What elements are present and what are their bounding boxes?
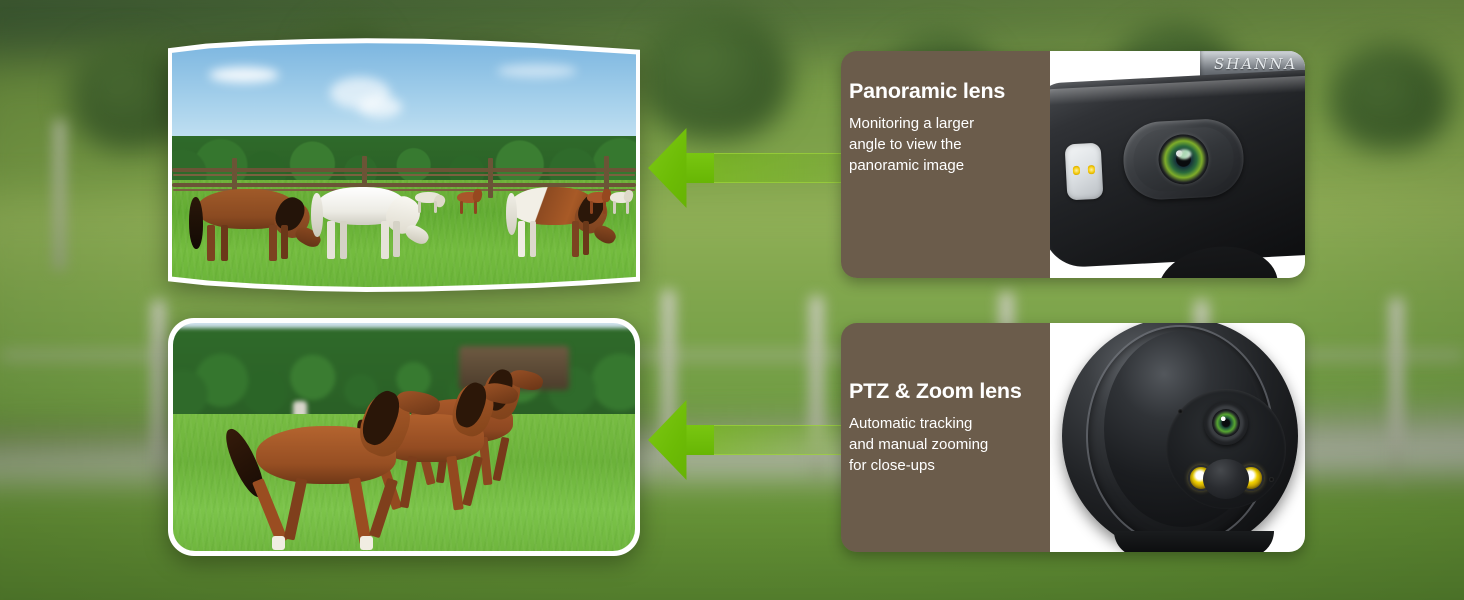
panel-desc-panoramic: Monitoring a larger angle to view the pa… bbox=[849, 113, 1050, 177]
ptz-lens-barrel bbox=[1204, 401, 1248, 445]
camera-led bbox=[1073, 166, 1080, 175]
running-horses-photo-image bbox=[173, 323, 635, 551]
horse-leg bbox=[626, 201, 629, 214]
panel-desc-line: for close-ups bbox=[849, 455, 1050, 476]
camera-lens bbox=[1157, 133, 1210, 186]
feature-panel-ptz: PTZ & Zoom lens Automatic tracking and m… bbox=[841, 323, 1305, 552]
panel-desc-line: angle to view the bbox=[849, 134, 1050, 155]
ptz-camera-base bbox=[1114, 531, 1274, 552]
horse-leg bbox=[434, 201, 437, 213]
horse-leg bbox=[252, 478, 288, 544]
horse-hoof-white bbox=[360, 536, 373, 550]
pasture-scene-running bbox=[173, 323, 635, 551]
camera-body bbox=[1050, 68, 1305, 268]
camera-body-highlight bbox=[1050, 75, 1305, 105]
horse-leg bbox=[283, 477, 307, 540]
horse-leg bbox=[474, 201, 477, 214]
panel-title-panoramic: Panoramic lens bbox=[849, 79, 1050, 104]
pasture-scene-wide bbox=[172, 42, 636, 289]
horse-leg bbox=[369, 478, 398, 538]
horse-tail bbox=[311, 193, 323, 237]
horse-leg bbox=[348, 477, 371, 544]
horse-running-front bbox=[238, 396, 448, 551]
panel-desc-line: panoramic image bbox=[849, 155, 1050, 176]
ptz-camera-face bbox=[1166, 389, 1286, 509]
running-horses-photo bbox=[168, 318, 640, 556]
horse-head bbox=[403, 222, 431, 247]
ptz-pir-sensor bbox=[1203, 459, 1249, 499]
horse-leg bbox=[613, 201, 616, 214]
panel-desc-line: Monitoring a larger bbox=[849, 113, 1050, 134]
scene-fence-rail bbox=[172, 168, 636, 172]
arrow-stem bbox=[684, 153, 714, 183]
camera-lens-housing bbox=[1122, 117, 1246, 201]
horse-distant-pale bbox=[413, 190, 447, 216]
horse-distant-pale bbox=[608, 190, 636, 216]
horse-leg bbox=[518, 221, 525, 257]
panoramic-pasture-photo bbox=[168, 38, 640, 293]
scene-fence-post bbox=[488, 158, 493, 198]
horse-leg bbox=[530, 221, 536, 257]
ptz-camera-shell bbox=[1062, 323, 1298, 552]
horse-tail bbox=[189, 197, 203, 249]
panel-text-ptz: PTZ & Zoom lens Automatic tracking and m… bbox=[841, 323, 1050, 552]
horse-leg bbox=[221, 225, 228, 261]
product-image-panoramic-camera: SHANNA bbox=[1050, 51, 1305, 278]
ptz-lens bbox=[1212, 409, 1240, 437]
horse-leg bbox=[572, 221, 579, 257]
panel-title-ptz: PTZ & Zoom lens bbox=[849, 379, 1050, 404]
horse-leg bbox=[281, 225, 288, 259]
ptz-camera-dome bbox=[1104, 331, 1262, 527]
scene-cloud bbox=[358, 96, 402, 118]
horse-leg bbox=[269, 225, 277, 261]
panel-text-panoramic: Panoramic lens Monitoring a larger angle… bbox=[841, 51, 1050, 278]
horse-leg bbox=[418, 201, 421, 213]
panel-desc-line: Automatic tracking bbox=[849, 413, 1050, 434]
horse-hoof-white bbox=[272, 536, 285, 550]
horse-leg bbox=[340, 221, 347, 259]
horse-leg bbox=[327, 221, 335, 259]
camera-spotlight bbox=[1065, 143, 1104, 201]
horse-tail bbox=[506, 193, 517, 235]
horse-leg bbox=[207, 225, 215, 261]
product-image-ptz-camera bbox=[1050, 323, 1305, 552]
arrow-stem bbox=[684, 425, 714, 455]
camera-lens-recess bbox=[1132, 126, 1235, 193]
horse-leg bbox=[393, 221, 400, 257]
horse-leg bbox=[460, 201, 463, 214]
horse-leg bbox=[590, 201, 593, 214]
panel-desc-ptz: Automatic tracking and manual zooming fo… bbox=[849, 413, 1050, 477]
scene-cloud bbox=[209, 67, 279, 83]
ptz-sensor-dot bbox=[1269, 477, 1274, 482]
camera-lens-glint bbox=[1177, 149, 1192, 160]
horse-leg bbox=[462, 456, 483, 507]
horse-leg bbox=[583, 221, 589, 255]
panoramic-photo-image bbox=[172, 42, 636, 289]
feature-panel-panoramic: Panoramic lens Monitoring a larger angle… bbox=[841, 51, 1305, 278]
horse-distant-chestnut bbox=[455, 190, 485, 216]
horse-grazing-brown bbox=[191, 185, 321, 265]
panel-desc-line: and manual zooming bbox=[849, 434, 1050, 455]
camera-led bbox=[1088, 165, 1095, 174]
ptz-microphone bbox=[1178, 409, 1183, 414]
horse-leg bbox=[603, 201, 606, 214]
horse-leg bbox=[381, 221, 389, 259]
